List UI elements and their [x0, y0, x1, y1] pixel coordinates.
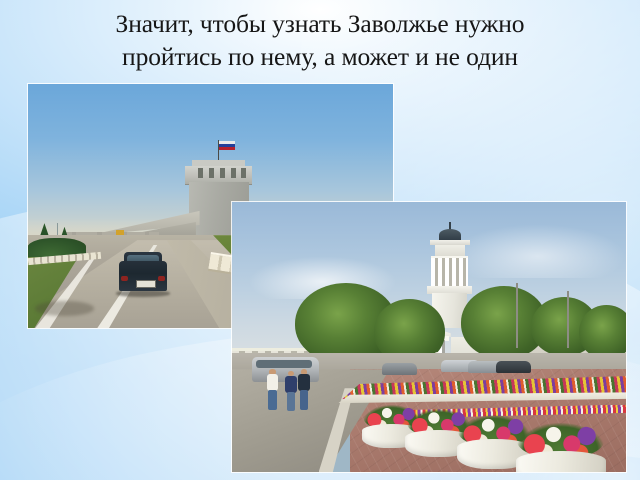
photo2-pedestrian-torso: [285, 376, 296, 393]
photo2-pedestrian-legs: [287, 392, 296, 411]
photo1-tower-window: [220, 168, 225, 178]
photo2-pedestrian-torso: [298, 374, 309, 391]
slide-canvas: Значит, чтобы узнать Заволжье нужно прой…: [0, 0, 640, 480]
photo2-minivan-windows: [256, 360, 312, 368]
photo1-car-shadow: [116, 290, 171, 296]
photo1-suv-taillight: [121, 276, 128, 281]
photo1-suv-licence-plate: [136, 280, 156, 287]
photo-town-square[interactable]: [232, 202, 626, 472]
photo1-suv-taillight: [158, 276, 165, 281]
slide-title: Значит, чтобы узнать Заволжье нужно прой…: [0, 8, 640, 73]
photo1-russian-flag-icon: [219, 141, 235, 149]
photo2-street-lamp-post: [516, 283, 518, 348]
photo2-parked-car: [496, 361, 531, 373]
photo2-cloud: [449, 224, 626, 278]
slide-title-line-2: пройтись по нему, а может и не один: [8, 41, 632, 74]
photo2-round-planter: [516, 423, 607, 472]
photo2-pedestrian: [265, 369, 279, 410]
photo2-rotunda-colonnade: [431, 256, 468, 290]
photo2-pedestrian-legs: [268, 390, 277, 409]
photo2-pedestrian-torso: [267, 374, 278, 391]
slide-title-line-1: Значит, чтобы узнать Заволжье нужно: [8, 8, 632, 41]
photo2-pedestrian-legs: [300, 390, 309, 409]
photo2-street-lamp-post: [567, 291, 569, 348]
photo1-asphalt-patch: [35, 301, 93, 316]
photo1-tower-window: [209, 168, 214, 178]
photo1-tower-window: [198, 168, 203, 178]
photo2-parked-car: [382, 363, 417, 375]
photo1-tower-window: [241, 168, 246, 178]
photo2-pedestrian: [297, 369, 311, 410]
photo2-planter-pot: [516, 451, 607, 472]
photo1-tower-window: [231, 168, 236, 178]
photo2-tree: [579, 305, 626, 359]
